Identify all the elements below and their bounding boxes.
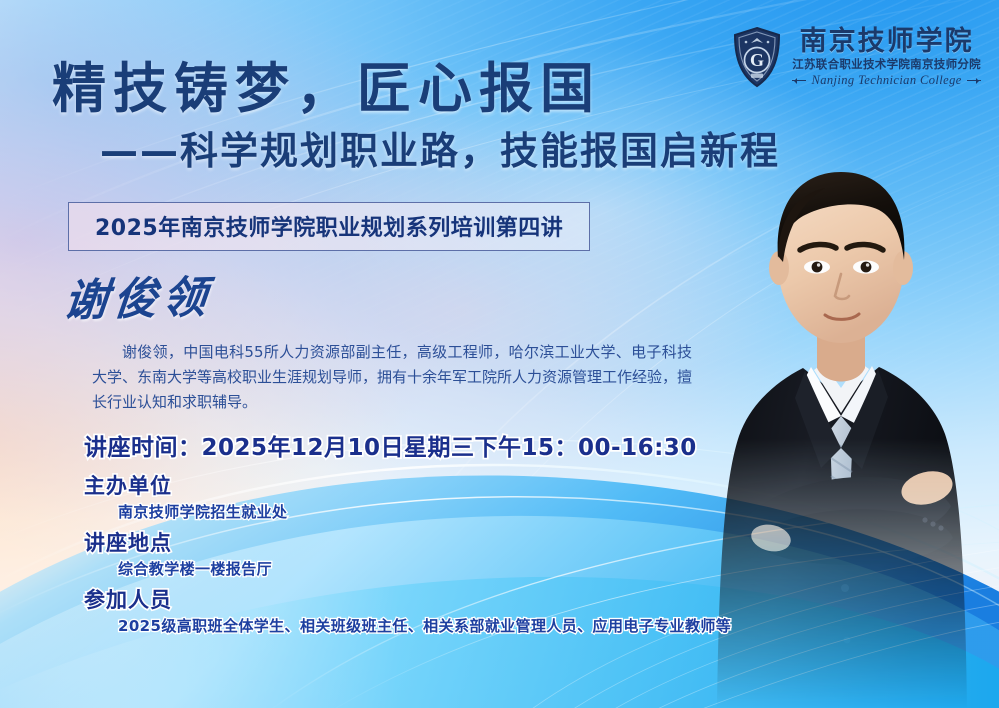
info-label-attendees: 参加人员 — [84, 588, 784, 614]
logo-affiliation-cn: 江苏联合职业技术学院南京技师分院 — [792, 59, 981, 71]
left-arrow-icon — [792, 80, 806, 81]
info-label-organizer: 主办单位 — [84, 474, 784, 500]
speaker-name: 谢俊领 — [62, 276, 214, 324]
session-banner-box: 2025年南京技师学院职业规划系列培训第四讲 — [68, 202, 590, 251]
info-value-attendees: 2025级高职班全体学生、相关班级班主任、相关系部就业管理人员、应用电子专业教师… — [118, 617, 784, 637]
school-logo: G 南京技师学院 江苏联合职业技术学院南京技师分院 Nanjing Techni… — [731, 26, 981, 88]
info-row-attendees: 参加人员 2025级高职班全体学生、相关班级班主任、相关系部就业管理人员、应用电… — [84, 588, 784, 636]
info-label-venue: 讲座地点 — [84, 531, 784, 557]
lecture-datetime: 讲座时间：2025年12月10日星期三下午15：00-16:30 — [84, 428, 697, 462]
session-banner-text: 2025年南京技师学院职业规划系列培训第四讲 — [95, 216, 563, 241]
info-row-organizer: 主办单位 南京技师学院招生就业处 — [84, 474, 784, 522]
session-banner-wrapper: 2025年南京技师学院职业规划系列培训第四讲 — [68, 202, 590, 251]
info-value-venue: 综合教学楼一楼报告厅 — [118, 560, 784, 580]
logo-name-cn: 南京技师学院 — [800, 28, 974, 55]
poster-canvas: G 南京技师学院 江苏联合职业技术学院南京技师分院 Nanjing Techni… — [0, 0, 999, 708]
svg-text:G: G — [750, 50, 764, 70]
lecture-info-list: 主办单位 南京技师学院招生就业处 讲座地点 综合教学楼一楼报告厅 参加人员 20… — [84, 474, 784, 645]
right-arrow-icon — [967, 80, 981, 81]
info-row-venue: 讲座地点 综合教学楼一楼报告厅 — [84, 531, 784, 579]
info-value-organizer: 南京技师学院招生就业处 — [118, 503, 784, 523]
speaker-bio: 谢俊领，中国电科55所人力资源部副主任，高级工程师，哈尔滨工业大学、电子科技大学… — [92, 340, 692, 415]
headline-line-1: 精技铸梦，匠心报国 — [52, 62, 752, 116]
logo-name-en-row: Nanjing Technician College — [792, 74, 980, 87]
headline-line-2: ——科学规划职业路，技能报国启新程 — [52, 132, 752, 170]
poster-headline: 精技铸梦，匠心报国 ——科学规划职业路，技能报国启新程 — [52, 62, 752, 170]
logo-name-en: Nanjing Technician College — [811, 74, 961, 87]
